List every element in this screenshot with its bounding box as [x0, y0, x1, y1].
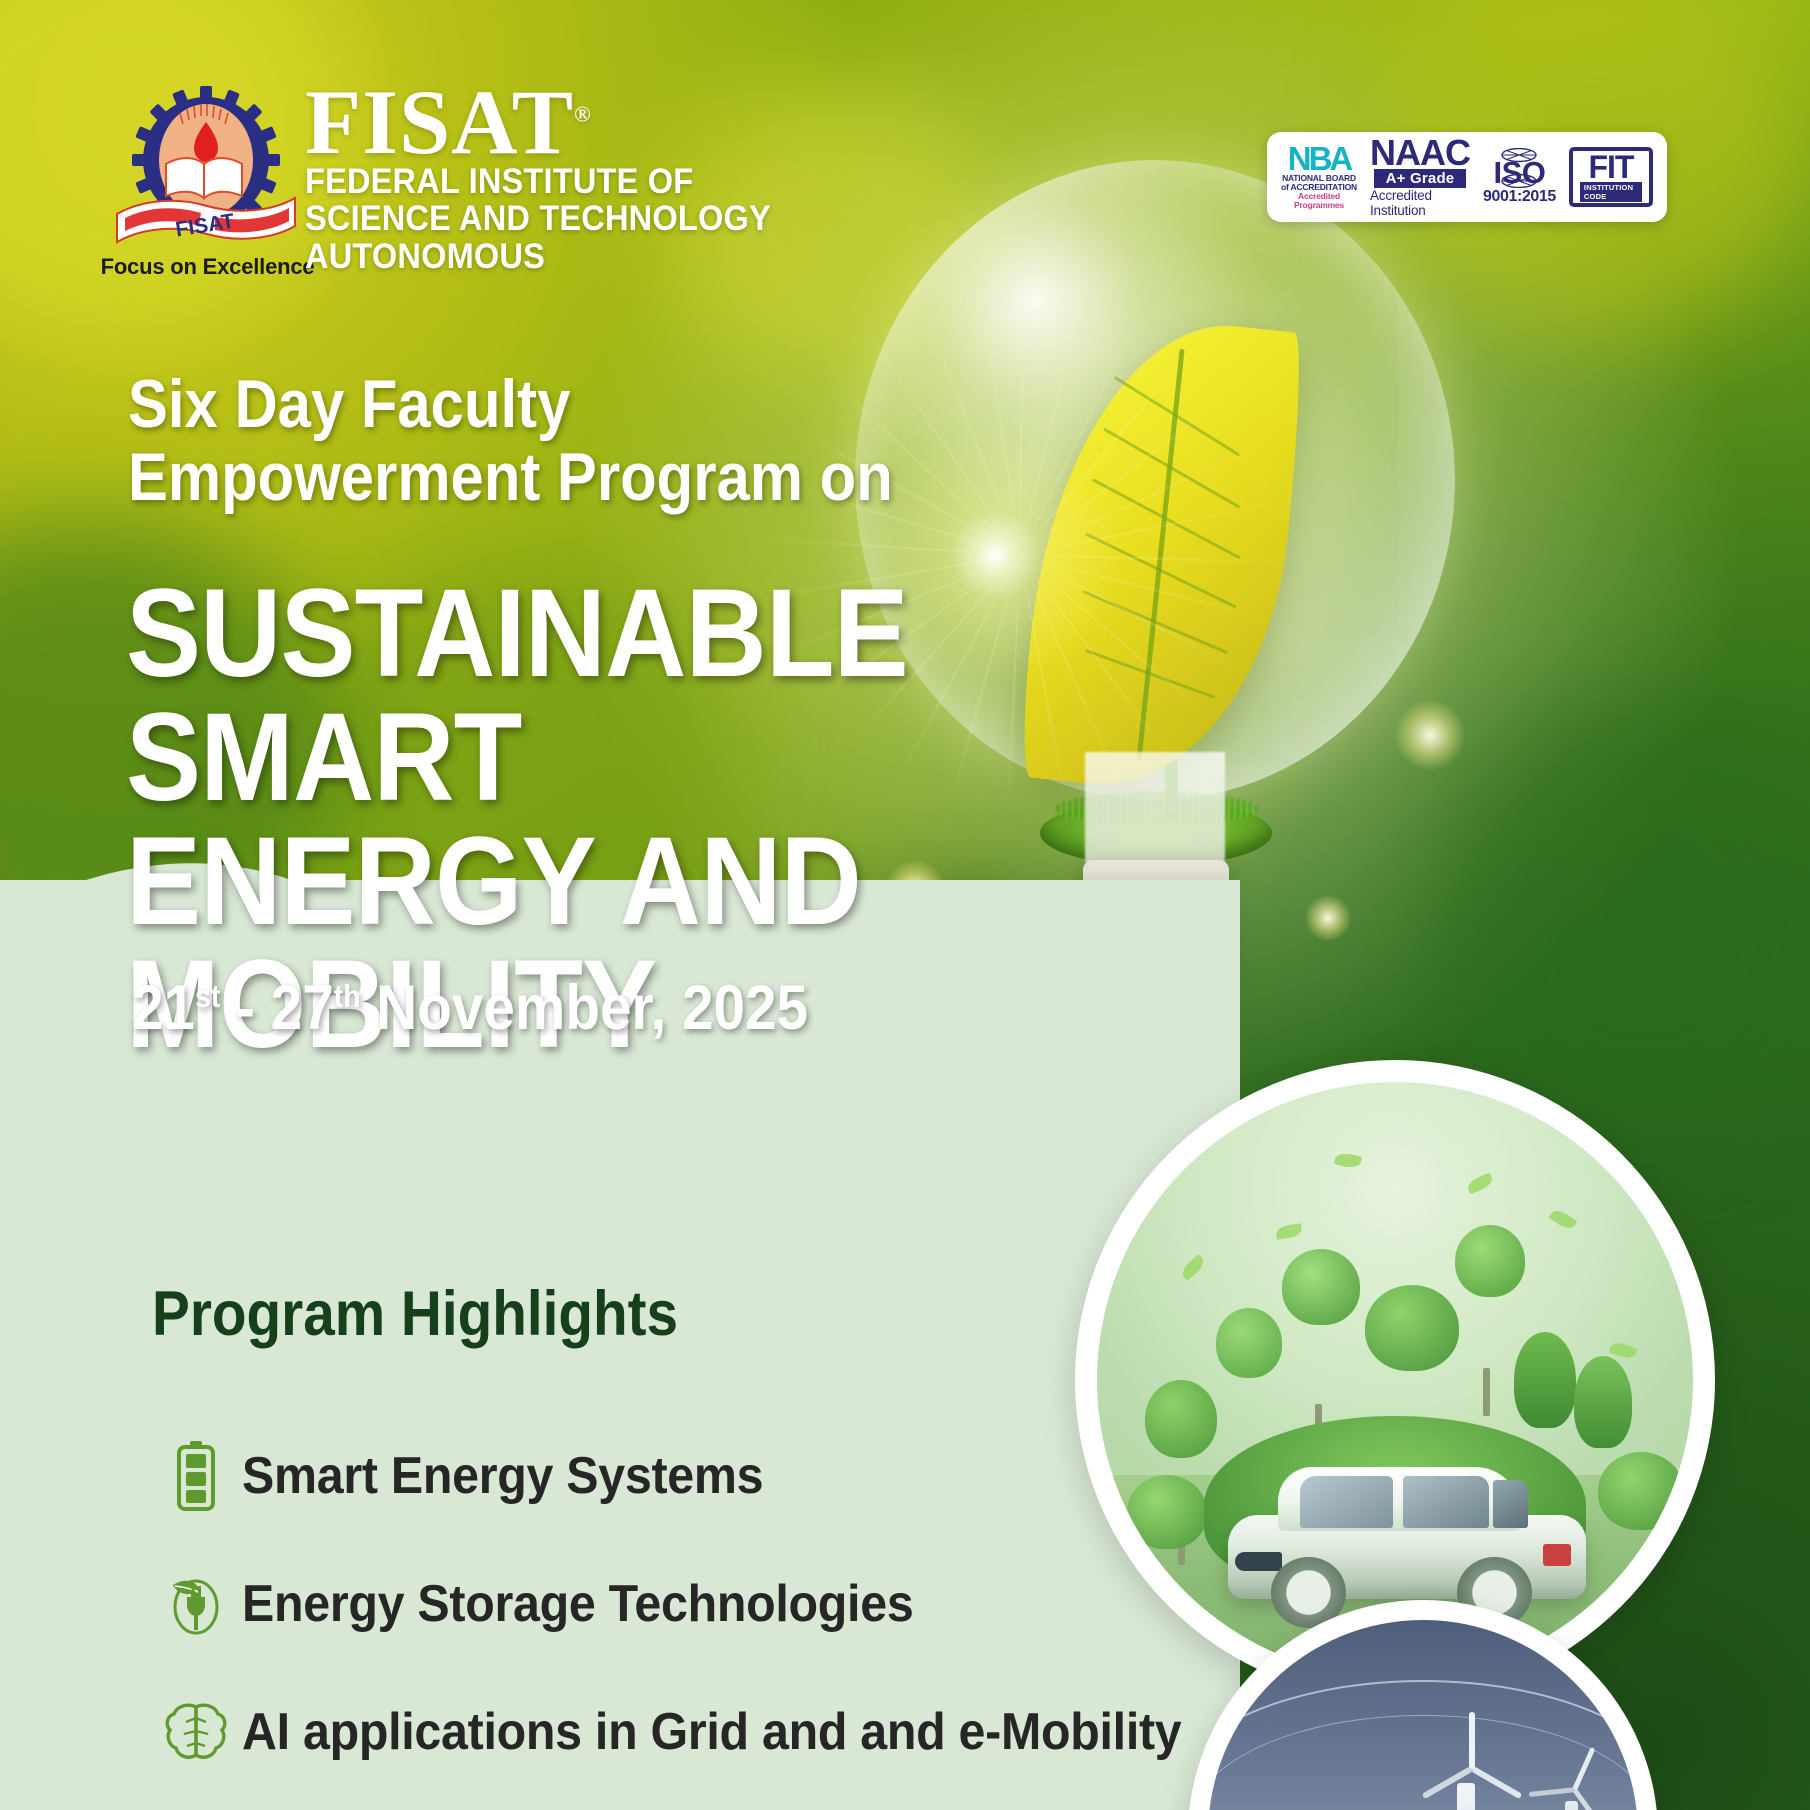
date-start-number: 21 [132, 973, 195, 1043]
eco-plug-icon [150, 1569, 242, 1639]
ev-circle-inner [1097, 1082, 1693, 1678]
list-item: Energy Storage Technologies [150, 1540, 1080, 1668]
nba-badge: NBA NATIONAL BOARD of ACCREDITATION Accr… [1281, 144, 1357, 209]
wind-turbine-blades-icon [1436, 1762, 1505, 1810]
date-end-number: 27 [271, 973, 334, 1043]
naac-mark: NAAC [1370, 136, 1470, 169]
date-separator: - [220, 973, 270, 1043]
list-item: AI applications in Grid and and e-Mobili… [150, 1668, 1080, 1796]
accreditation-badges: NBA NATIONAL BOARD of ACCREDITATION Accr… [1267, 132, 1667, 222]
event-subtitle-line2: Empowerment Program on [128, 441, 946, 514]
highlight-label: Smart Energy Systems [242, 1446, 763, 1506]
highlight-label: AI applications in Grid and and e-Mobili… [242, 1702, 1181, 1762]
institution-name-line1: FEDERAL INSTITUTE OF [305, 163, 844, 200]
brain-icon [150, 1701, 242, 1763]
naac-badge: NAAC A+ Grade Accredited Institution [1370, 136, 1470, 218]
event-subtitle-line1: Six Day Faculty [128, 368, 946, 441]
nba-mark: NBA [1288, 144, 1351, 174]
institution-name-line2: SCIENCE AND TECHNOLOGY [305, 200, 844, 237]
logo-tagline: Focus on Excellence [100, 254, 315, 280]
sparkle-icon [1395, 700, 1465, 770]
naac-grade: A+ Grade [1374, 169, 1467, 188]
date-month-year: November, 2025 [361, 973, 809, 1043]
naac-status: Accredited Institution [1370, 188, 1470, 218]
list-item: Smart Energy Systems [150, 1412, 1080, 1540]
registered-mark: ® [574, 101, 591, 126]
event-title-line1: SUSTAINABLE SMART [126, 572, 1188, 820]
date-start-ordinal: st [195, 978, 220, 1014]
iso-standard: 9001:2015 [1483, 188, 1556, 206]
fit-box: FIT INSTITUTION CODE [1569, 147, 1653, 207]
sparkle-icon [1305, 895, 1351, 941]
poster-canvas: FISAT Focus on Excellence FISAT® FEDERAL… [0, 0, 1810, 1810]
iso-badge: ISO 9001:2015 [1483, 148, 1556, 205]
institution-name-line3: AUTONOMOUS [305, 238, 844, 275]
highlights-heading: Program Highlights [152, 1278, 678, 1350]
institution-header: FISAT Focus on Excellence FISAT® FEDERAL… [110, 86, 870, 286]
highlight-label: Energy Storage Technologies [242, 1574, 913, 1634]
institution-acronym: FISAT® [305, 82, 885, 163]
highlights-list: Smart Energy Systems Energy Storage Tech… [150, 1412, 1080, 1810]
nba-sub3: Accredited Programmes [1281, 192, 1357, 210]
fit-sub: INSTITUTION CODE [1580, 182, 1642, 202]
event-subtitle: Six Day Faculty Empowerment Program on [128, 368, 946, 515]
acronym-text: FISAT [305, 71, 574, 173]
fit-mark: FIT [1588, 153, 1633, 182]
fit-badge: FIT INSTITUTION CODE [1569, 147, 1653, 207]
battery-icon [150, 1441, 242, 1511]
date-end-ordinal: th [334, 978, 361, 1014]
event-date: 21st - 27th November, 2025 [132, 972, 808, 1044]
fisat-logo-icon: FISAT [115, 86, 297, 258]
list-item: Visit to NeST SFO Manufacturing Facility [150, 1796, 1080, 1810]
iso-mark: ISO [1494, 158, 1546, 187]
institution-name-block: FISAT® FEDERAL INSTITUTE OF SCIENCE AND … [305, 82, 885, 275]
